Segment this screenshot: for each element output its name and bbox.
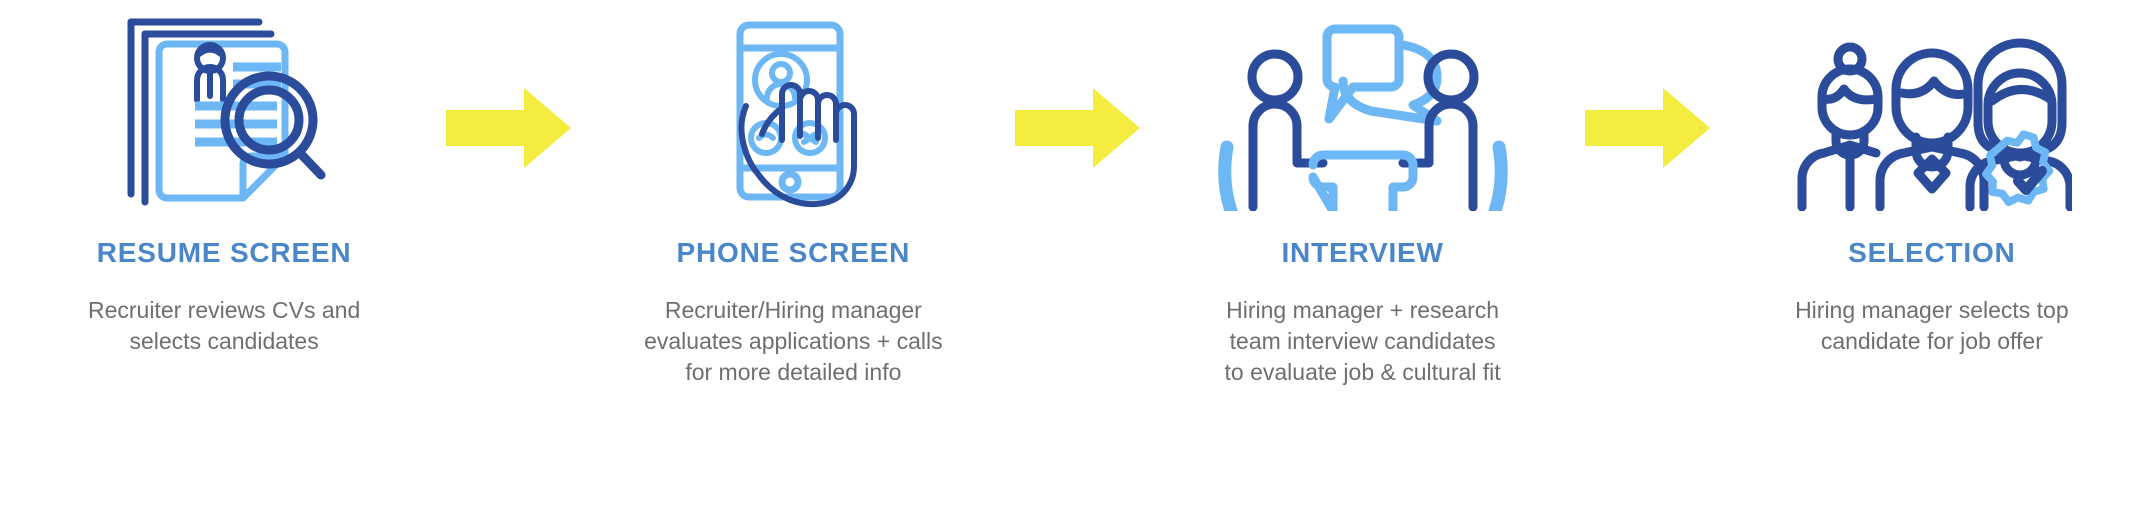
- arrow-right-icon: [1015, 88, 1140, 168]
- resume-documents-magnifier-icon: [109, 8, 339, 213]
- step-heading: SELECTION: [1848, 237, 2015, 269]
- two-people-table-speech-bubbles-icon: [1213, 11, 1513, 211]
- arrow-right-icon: [1585, 88, 1710, 168]
- step-description: Hiring manager + research team interview…: [1225, 295, 1501, 388]
- step-description: Recruiter/Hiring manager evaluates appli…: [644, 295, 943, 388]
- process-step-selection: SELECTION Hiring manager selects top can…: [1726, 0, 2138, 525]
- arrow-container-3: [1569, 0, 1726, 525]
- icon-container: [587, 0, 999, 215]
- three-people-check-badge-icon: [1792, 11, 2072, 211]
- icon-container: [18, 0, 430, 215]
- hiring-process-flow: RESUME SCREEN Recruiter reviews CVs and …: [0, 0, 2138, 525]
- step-heading: PHONE SCREEN: [677, 237, 911, 269]
- smartphone-hand-tap-icon: [686, 8, 901, 213]
- step-heading: INTERVIEW: [1281, 237, 1443, 269]
- step-description: Recruiter reviews CVs and selects candid…: [88, 295, 360, 357]
- arrow-container-1: [430, 0, 587, 525]
- icon-container: [1726, 0, 2138, 215]
- step-description: Hiring manager selects top candidate for…: [1795, 295, 2069, 357]
- process-step-resume-screen: RESUME SCREEN Recruiter reviews CVs and …: [18, 0, 430, 525]
- process-step-interview: INTERVIEW Hiring manager + research team…: [1157, 0, 1569, 525]
- icon-container: [1157, 0, 1569, 215]
- arrow-container-2: [999, 0, 1156, 525]
- arrow-right-icon: [446, 88, 571, 168]
- step-heading: RESUME SCREEN: [97, 237, 352, 269]
- process-step-phone-screen: PHONE SCREEN Recruiter/Hiring manager ev…: [587, 0, 999, 525]
